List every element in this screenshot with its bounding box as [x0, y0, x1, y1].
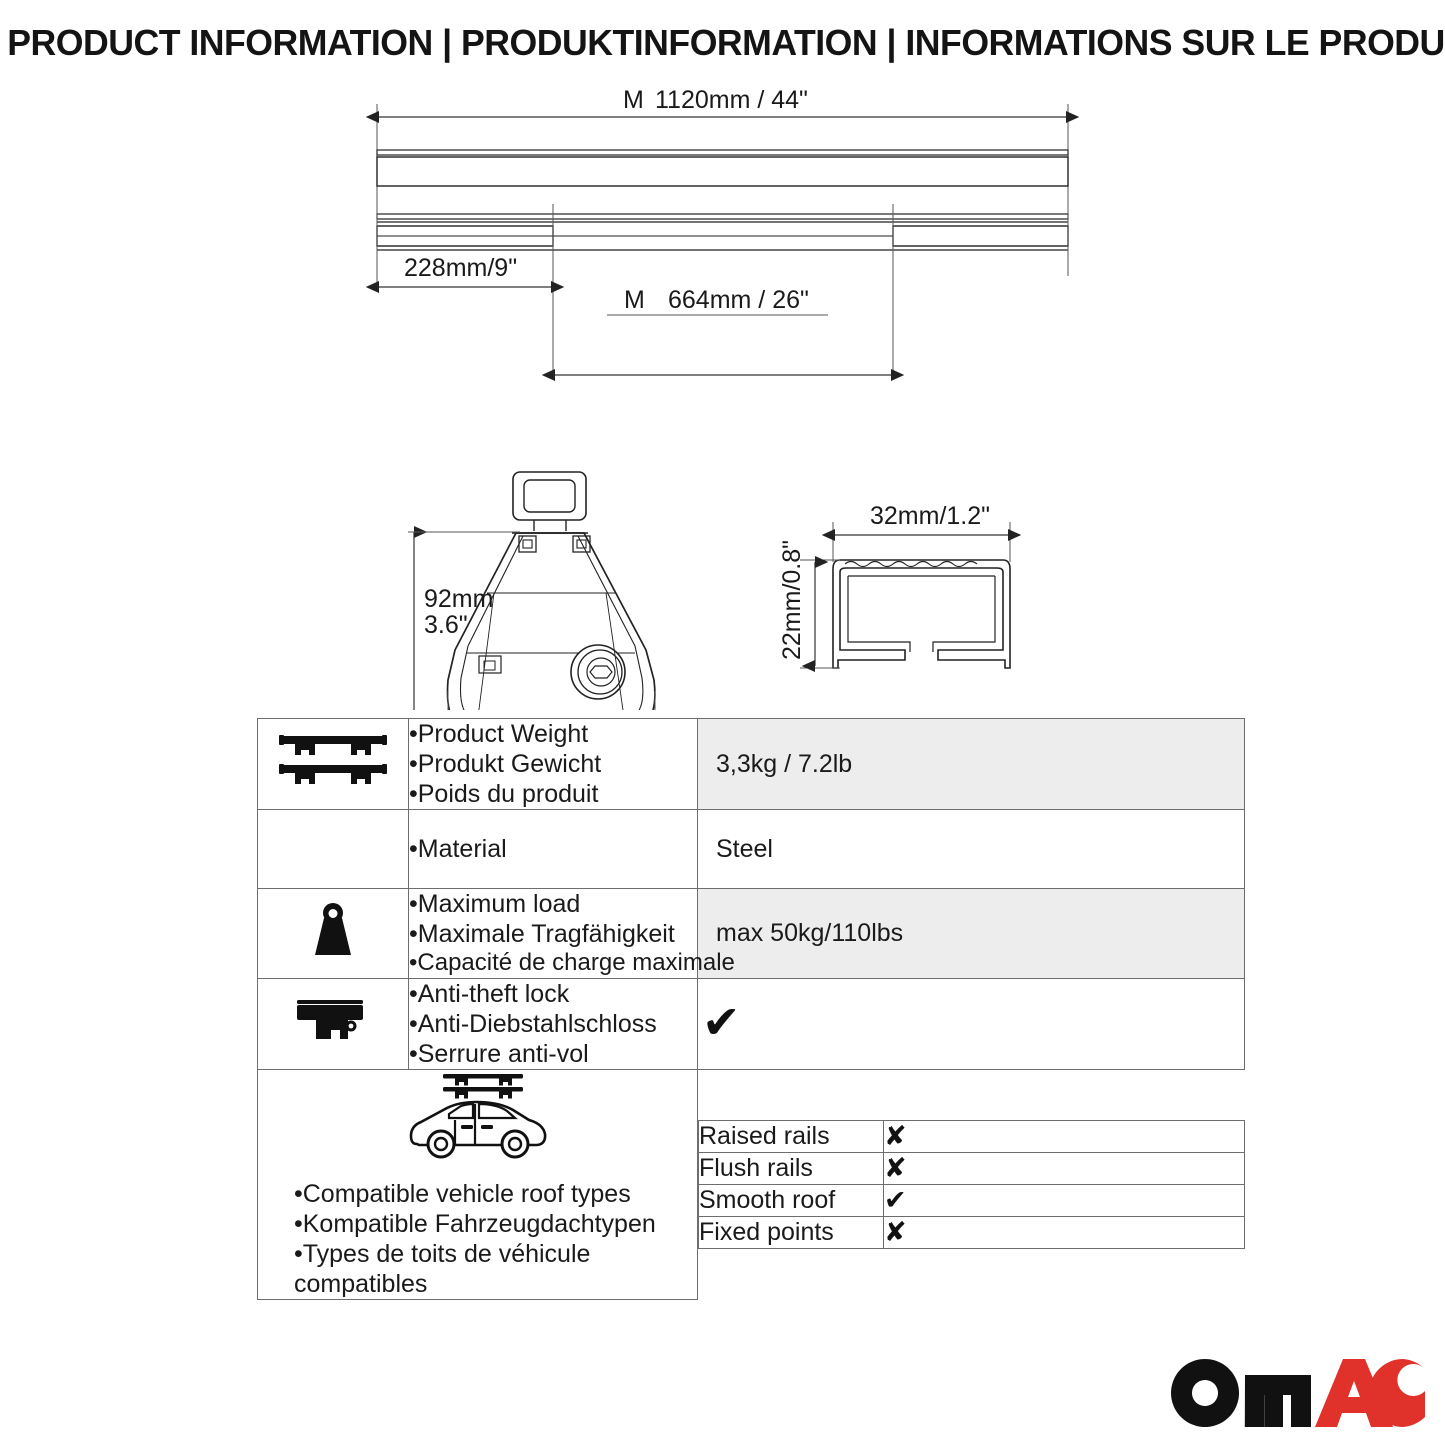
anti-theft-lock-icon-cell [258, 978, 409, 1069]
roof-type-name: Fixed points [699, 1217, 884, 1249]
roof-type-row: Flush rails ✘ [699, 1153, 1245, 1185]
car-with-roof-rack-icon [403, 1070, 553, 1168]
label-material: •Material [409, 810, 698, 889]
dim-profile-height: 22mm/0.8" [778, 540, 806, 660]
roof-type-mark: ✘ [884, 1153, 1245, 1185]
dim-profile-width: 32mm/1.2" [870, 502, 990, 530]
label-anti-theft-lock: •Anti-theft lock •Anti-Diebstahlschloss … [409, 978, 698, 1069]
dim-end-offset: 228mm/9" [404, 254, 517, 282]
dim-foot-height-mm: 92mm [424, 585, 493, 613]
technical-drawing: M 1120mm / 44" 228mm/9" M 664mm / 26" 92… [0, 80, 1445, 710]
label-max-load: •Maximum load •Maximale Tragfähigkeit •C… [409, 889, 698, 979]
roof-types-table: Raised rails ✘ Flush rails ✘ Smooth roof… [698, 1120, 1245, 1249]
roof-type-row: Smooth roof ✔ [699, 1185, 1245, 1217]
page-title: PRODUCT INFORMATION | PRODUKTINFORMATION… [7, 22, 1438, 64]
label-line: •Capacité de charge maximale [409, 949, 697, 978]
value-material: Steel [698, 810, 1245, 889]
roof-rack-bars-icon-cell [258, 719, 409, 810]
label-product-weight: •Product Weight •Produkt Gewicht •Poids … [409, 719, 698, 810]
label-line: •Kompatible Fahrzeugdachtypen [294, 1209, 697, 1239]
roof-type-name: Raised rails [699, 1121, 884, 1153]
weight-icon-cell [258, 889, 409, 979]
label-line: •Poids du produit [409, 779, 697, 809]
roof-type-name: Flush rails [699, 1153, 884, 1185]
omac-logo [1167, 1355, 1427, 1431]
dim-span-prefix: M [624, 286, 645, 314]
label-line: •Maximum load [409, 889, 697, 919]
compatibility-label-block: •Compatible vehicle roof types •Kompatib… [258, 1173, 697, 1299]
label-compatible-roof-types: •Compatible vehicle roof types •Kompatib… [258, 1069, 698, 1299]
table-row: •Maximum load •Maximale Tragfähigkeit •C… [258, 889, 1245, 979]
roof-types-cell: Raised rails ✘ Flush rails ✘ Smooth roof… [698, 1069, 1245, 1299]
roof-type-name: Smooth roof [699, 1185, 884, 1217]
roof-type-row: Fixed points ✘ [699, 1217, 1245, 1249]
roof-type-mark: ✘ [884, 1121, 1245, 1153]
value-anti-theft-lock: ✔ [698, 978, 1245, 1069]
table-row: •Product Weight •Produkt Gewicht •Poids … [258, 719, 1245, 810]
label-line: •Maximale Tragfähigkeit [409, 919, 697, 949]
dim-span: 664mm / 26" [668, 286, 809, 314]
roof-type-mark: ✘ [884, 1217, 1245, 1249]
weight-icon [302, 900, 364, 962]
value-text: max 50kg/110lbs [698, 918, 1244, 948]
label-line: •Types de toits de véhicule [294, 1239, 697, 1269]
roof-type-row: Raised rails ✘ [699, 1121, 1245, 1153]
roof-rack-bars-icon [277, 732, 389, 792]
label-line: •Anti-theft lock [409, 979, 697, 1009]
value-product-weight: 3,3kg / 7.2lb [698, 719, 1245, 810]
material-icon-cell [258, 810, 409, 889]
label-line: •Produkt Gewicht [409, 749, 697, 779]
specification-table: •Product Weight •Produkt Gewicht •Poids … [257, 718, 1245, 1300]
label-line: •Material [409, 834, 697, 864]
value-text: Steel [698, 834, 1244, 864]
dim-foot-height-in: 3.6" [424, 611, 468, 639]
table-row: •Anti-theft lock •Anti-Diebstahlschloss … [258, 978, 1245, 1069]
label-line: •Compatible vehicle roof types [294, 1179, 697, 1209]
label-line: •Serrure anti-vol [409, 1039, 697, 1069]
label-line: compatibles [294, 1269, 697, 1299]
anti-theft-lock-icon [294, 997, 372, 1045]
status-badge: ✔ [698, 1004, 741, 1041]
value-text: 3,3kg / 7.2lb [698, 749, 1244, 779]
dim-bar-length-prefix: M [623, 86, 644, 114]
value-max-load: max 50kg/110lbs [698, 889, 1245, 979]
dim-bar-length: 1120mm / 44" [655, 86, 808, 114]
roof-type-mark: ✔ [884, 1185, 1245, 1217]
label-line: •Product Weight [409, 719, 697, 749]
table-row-compatibility: •Compatible vehicle roof types •Kompatib… [258, 1069, 1245, 1299]
table-row: •Material Steel [258, 810, 1245, 889]
label-line: •Anti-Diebstahlschloss [409, 1009, 697, 1039]
